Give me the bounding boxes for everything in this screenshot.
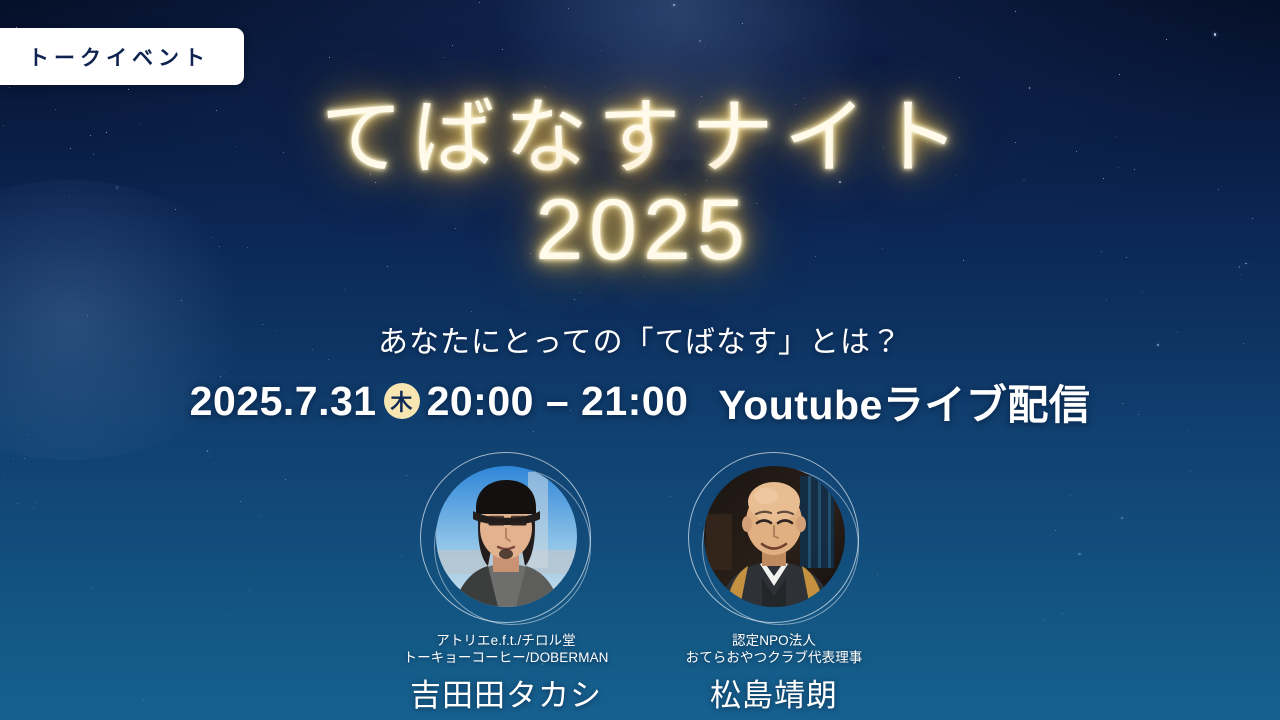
speaker-affiliation-line1: アトリエe.f.t./チロル堂 — [386, 632, 626, 649]
star-icon — [1079, 300, 1080, 301]
event-channel: Youtubeライブ配信 — [718, 371, 1090, 431]
avatar — [436, 466, 577, 607]
star-icon — [329, 57, 330, 58]
star-icon — [673, 4, 675, 6]
star-icon — [1166, 39, 1167, 40]
event-title: てばなすナイト 2025 — [0, 96, 1280, 274]
speaker-affiliation: アトリエe.f.t./チロル堂 トーキョーコーヒー/DOBERMAN — [386, 632, 626, 667]
event-time: 20:00 – 21:00 — [427, 378, 689, 425]
speaker-list: アトリエe.f.t./チロル堂 トーキョーコーヒー/DOBERMAN 吉田田タカ… — [0, 452, 1280, 715]
star-icon — [1119, 74, 1120, 75]
star-icon — [344, 289, 345, 290]
talk-event-badge-label: トークイベント — [28, 42, 210, 72]
event-subtitle: あなたにとっての「てばなす」とは？ — [0, 317, 1280, 361]
star-icon — [1015, 11, 1016, 12]
star-icon — [568, 8, 569, 9]
star-icon — [574, 299, 575, 300]
event-poster: トークイベント てばなすナイト 2025 あなたにとっての「てばなす」とは？ 2… — [0, 0, 1280, 720]
day-of-week-badge: 木 — [384, 383, 420, 419]
speaker-card: 認定NPO法人 おてらおやつクラブ代表理事 松島靖朗 — [654, 452, 894, 715]
star-icon — [9, 87, 10, 88]
star-icon — [181, 300, 182, 301]
star-icon — [471, 311, 472, 312]
star-icon — [704, 46, 705, 47]
speaker-affiliation-line2: おてらおやつクラブ代表理事 — [654, 649, 894, 666]
star-icon — [699, 40, 701, 42]
star-icon — [742, 23, 743, 24]
star-icon — [544, 87, 545, 88]
star-icon — [27, 434, 28, 435]
avatar — [704, 466, 845, 607]
speaker-name: 吉田田タカシ — [386, 670, 626, 715]
speaker-affiliation-line1: 認定NPO法人 — [654, 632, 894, 649]
speaker-portrait-wrap — [688, 452, 860, 624]
talk-event-badge: トークイベント — [0, 28, 244, 85]
star-icon — [1029, 87, 1031, 89]
event-info-line: 2025.7.31 木 20:00 – 21:00 Youtubeライブ配信 — [0, 371, 1280, 431]
star-icon — [1106, 300, 1107, 301]
speaker-affiliation: 認定NPO法人 おてらおやつクラブ代表理事 — [654, 632, 894, 667]
star-icon — [959, 77, 960, 78]
star-icon — [674, 436, 675, 437]
star-icon — [580, 292, 581, 293]
speaker-affiliation-line2: トーキョーコーヒー/DOBERMAN — [386, 649, 626, 666]
star-icon — [452, 45, 453, 46]
star-icon — [1214, 33, 1216, 35]
star-icon — [1142, 291, 1143, 292]
star-icon — [443, 57, 444, 58]
star-icon — [128, 89, 129, 90]
star-icon — [479, 2, 480, 3]
star-icon — [87, 315, 88, 316]
star-icon — [502, 49, 503, 50]
speaker-name: 松島靖朗 — [654, 670, 894, 715]
speaker-card: アトリエe.f.t./チロル堂 トーキョーコーヒー/DOBERMAN 吉田田タカ… — [386, 452, 626, 715]
star-icon — [600, 50, 601, 51]
star-icon — [609, 88, 610, 89]
event-title-line2: 2025 — [0, 187, 1280, 275]
event-date: 2025.7.31 — [190, 378, 377, 425]
event-title-line1: てばなすナイト — [0, 96, 1280, 181]
speaker-portrait-wrap — [420, 452, 592, 624]
